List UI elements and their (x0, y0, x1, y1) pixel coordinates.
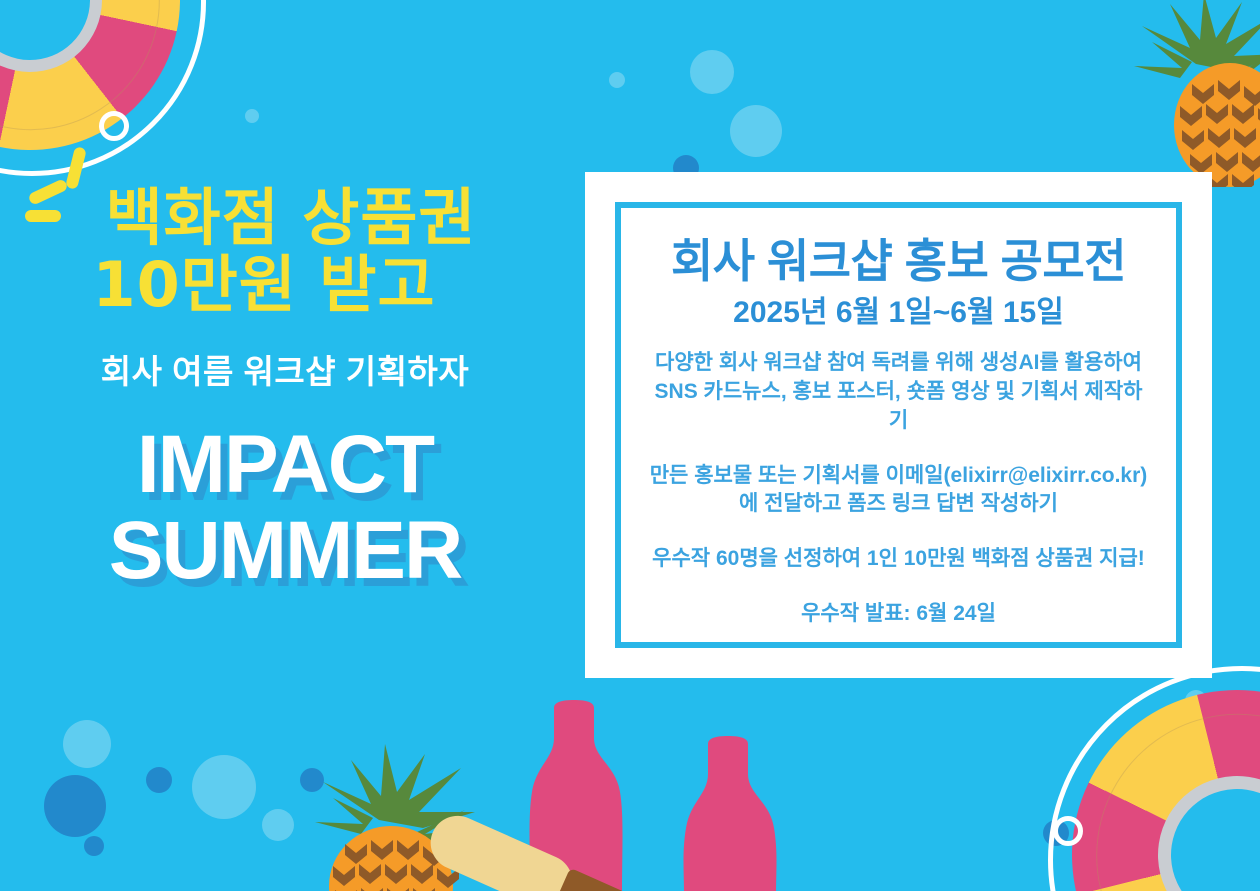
soda-bottles-decoration (470, 700, 1130, 891)
bubble-decoration (262, 809, 294, 841)
life-ring-rope-top-left (0, 0, 206, 176)
card-title: 회사 워크샵 홍보 공모전 (647, 236, 1150, 287)
pineapple-body (329, 826, 453, 891)
pineapple-leaves (315, 744, 475, 844)
pineapple-texture (333, 840, 459, 891)
bubble-decoration (245, 109, 259, 123)
card-paragraph-prize: 우수작 60명을 선정하여 1인 10만원 백화점 상품권 지급! (647, 545, 1150, 574)
pineapple-texture (1180, 80, 1260, 187)
card-paragraph-submission: 만든 홍보물 또는 기획서를 이메일(elixirr@elixirr.co.kr… (647, 462, 1150, 520)
card-date-range: 2025년 6월 1일~6월 15일 (647, 295, 1150, 331)
pineapple-leaves (1134, 0, 1260, 88)
popsicle-cream (422, 807, 581, 891)
left-copy-block: 백화점 상품권 10만원 받고 회사 여름 워크샵 기획하자 IMPACT SU… (0, 185, 570, 592)
poster-canvas: 백화점 상품권 10만원 받고 회사 여름 워크샵 기획하자 IMPACT SU… (0, 0, 1260, 891)
subtitle-line: 회사 여름 워크샵 기획하자 (0, 345, 570, 393)
card-paragraph-description: 다양한 회사 워크샵 참여 독려를 위해 생성AI를 활용하여 SNS 카드뉴스… (647, 349, 1150, 436)
headline-line-2: 10만원 받고 (0, 252, 570, 319)
bubble-decoration (44, 775, 106, 837)
bubble-decoration (84, 836, 104, 856)
bubble-decoration (146, 767, 172, 793)
life-ring-knot-top-left (99, 111, 129, 141)
bubble-decoration (609, 72, 625, 88)
pineapple-body (1174, 63, 1260, 187)
popsicle-decoration (420, 805, 750, 891)
info-card: 회사 워크샵 홍보 공모전 2025년 6월 1일~6월 15일 다양한 회사 … (585, 172, 1212, 678)
headline-line-1: 백화점 상품권 (12, 185, 570, 252)
bubble-decoration (690, 50, 734, 94)
big-word-impact: IMPACT (0, 425, 570, 505)
popsicle-stick (552, 868, 689, 891)
card-paragraph-announcement: 우수작 발표: 6월 24일 (647, 600, 1150, 629)
bubble-decoration (300, 768, 324, 792)
bottle-left (530, 700, 623, 891)
bubble-decoration (730, 105, 782, 157)
bottle-right (684, 736, 777, 891)
bubble-decoration (192, 755, 256, 819)
bubble-decoration (63, 720, 111, 768)
big-word-summer: SUMMER (0, 511, 570, 591)
life-ring-knot-bottom-right (1053, 816, 1083, 846)
info-card-inner-border: 회사 워크샵 홍보 공모전 2025년 6월 1일~6월 15일 다양한 회사 … (615, 202, 1182, 648)
pineapple-bottom-center (295, 726, 485, 891)
life-ring-rope-bottom-right (1048, 666, 1260, 891)
pineapple-top-right (1130, 0, 1260, 187)
